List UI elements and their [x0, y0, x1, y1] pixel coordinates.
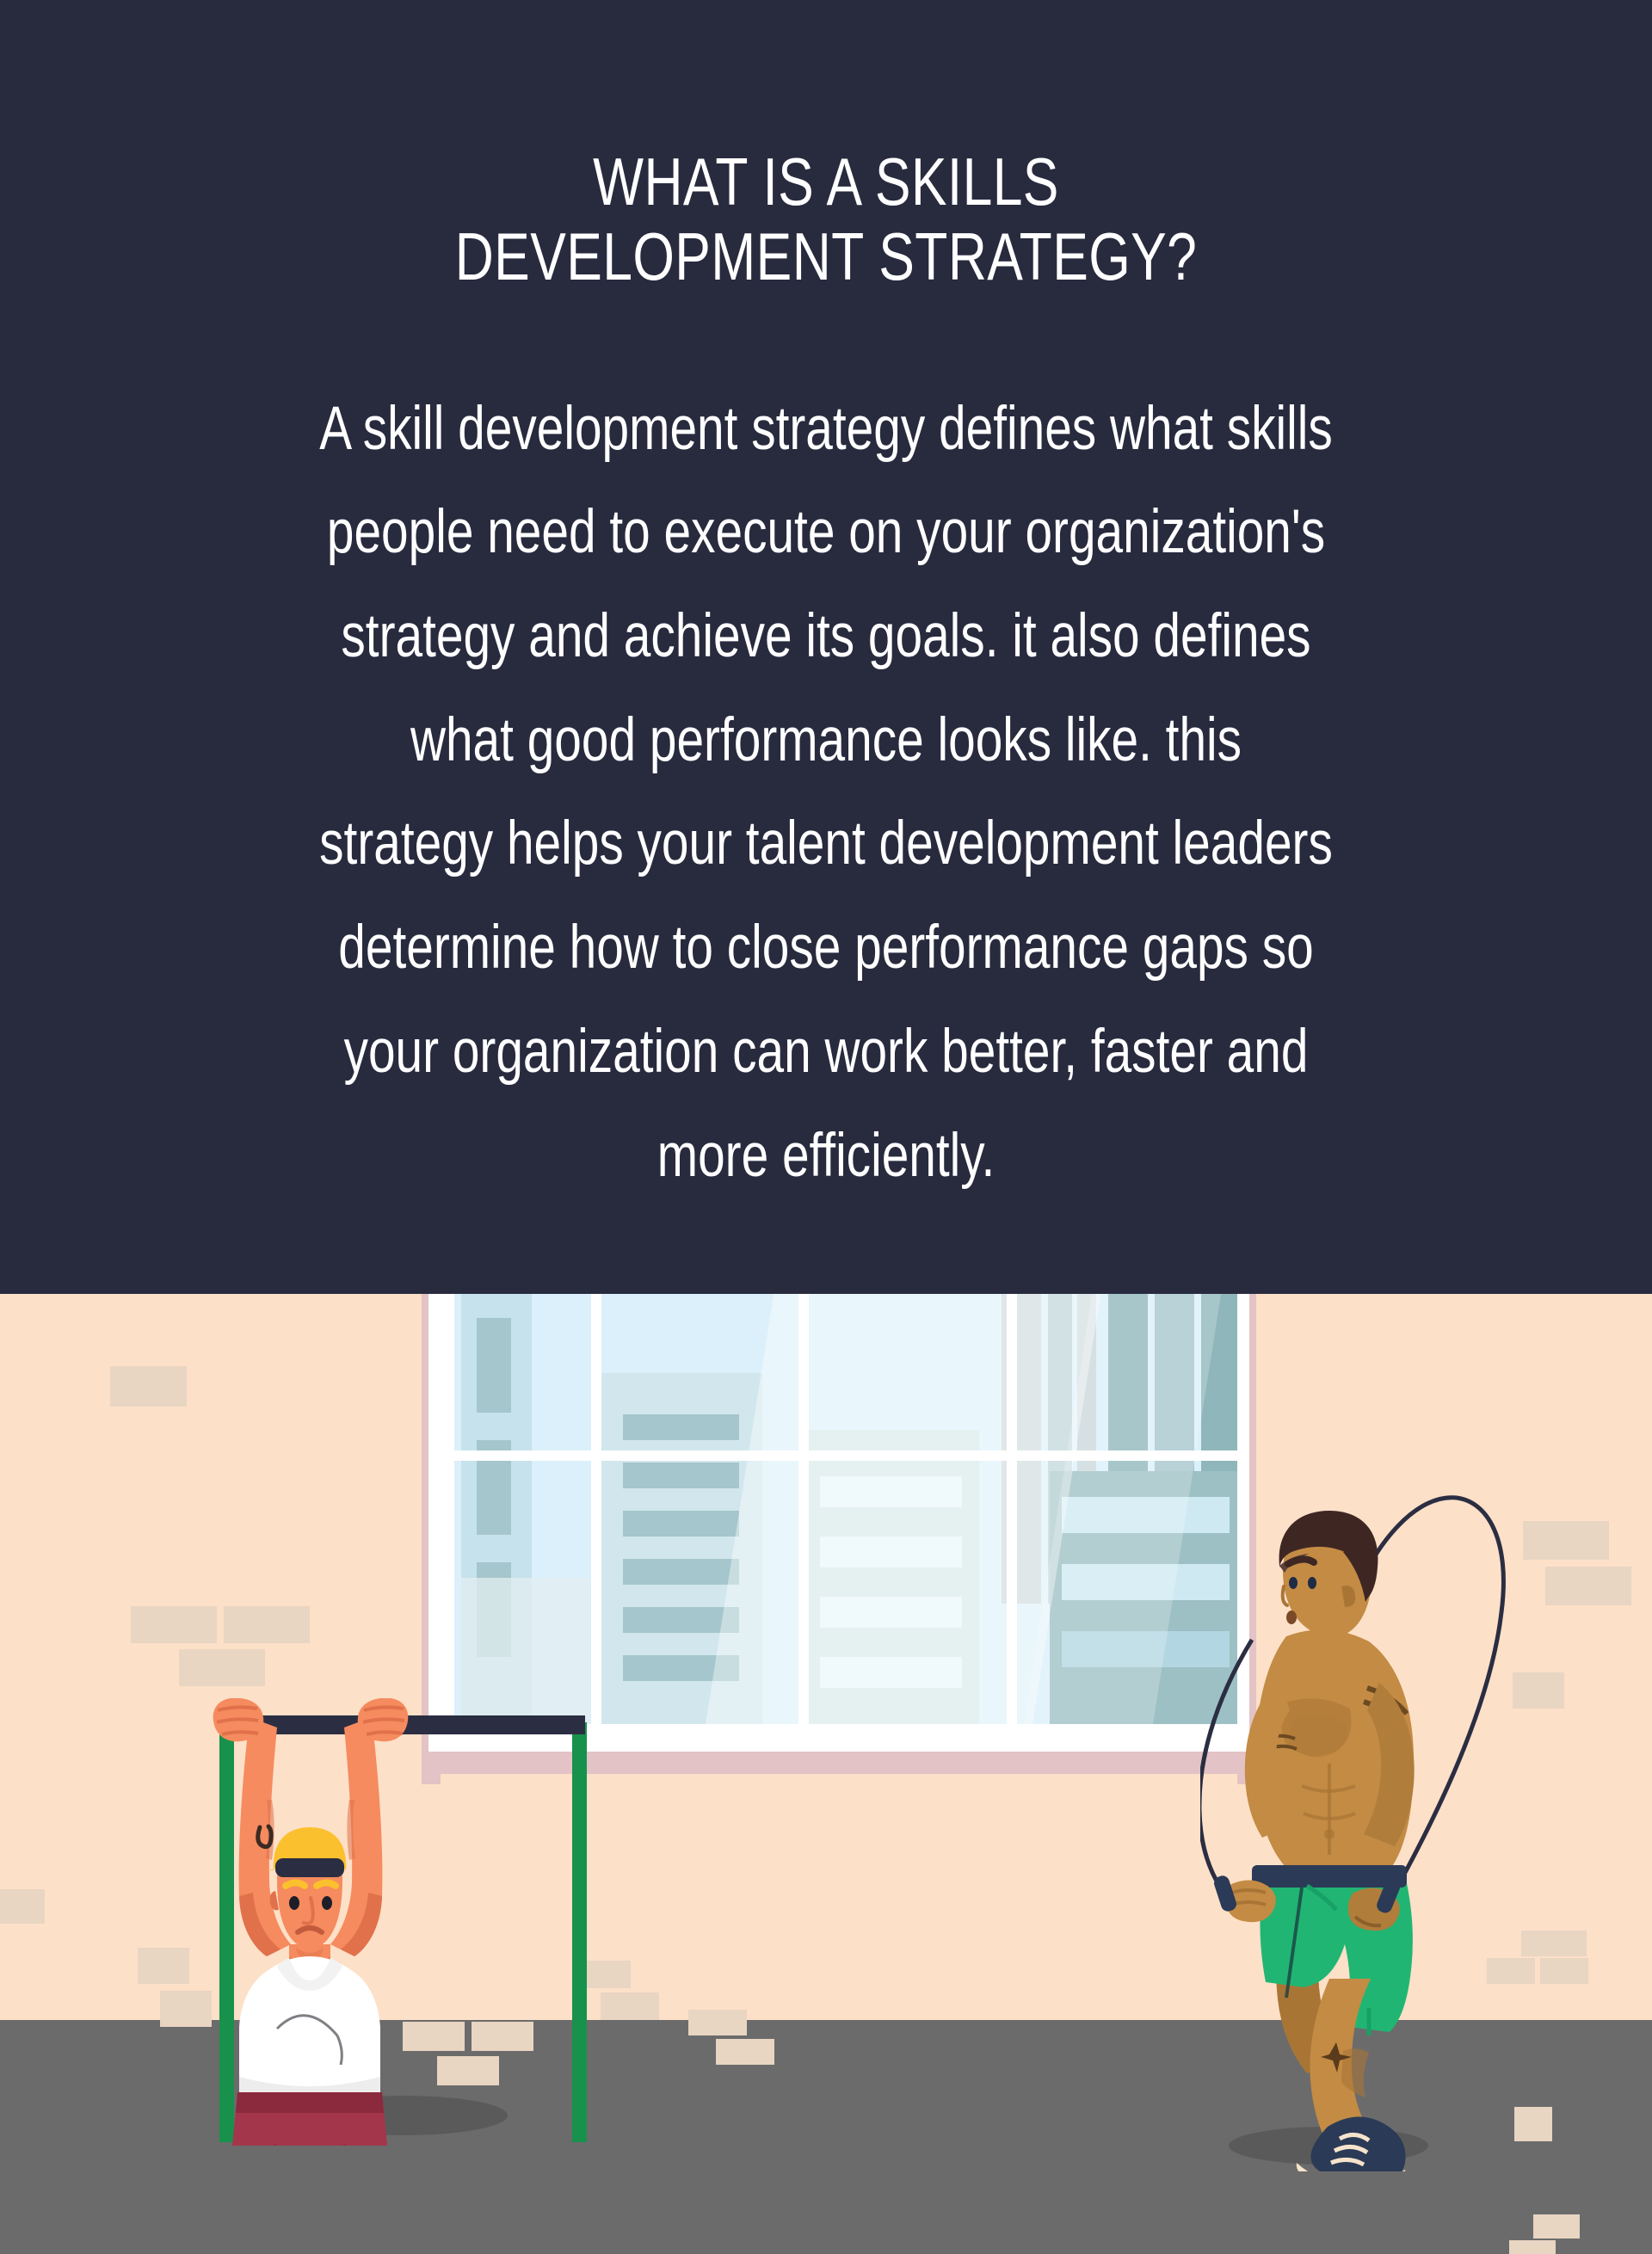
gym-illustration — [0, 1294, 1652, 2254]
window-mullion-vertical — [1007, 1294, 1017, 1724]
wall-brick — [688, 2010, 747, 2035]
tshirt — [239, 1956, 380, 2096]
wall-brick — [224, 1606, 310, 1643]
window — [422, 1294, 1256, 1784]
window-mullion-vertical — [798, 1294, 809, 1724]
wall-brick — [110, 1366, 187, 1407]
pullup-pole-right — [572, 1722, 587, 2142]
window-glass — [454, 1294, 1237, 1724]
wall-brick — [0, 1889, 45, 1924]
fist-right — [358, 1698, 409, 1741]
text-panel: WHAT IS A SKILLS DEVELOPMENT STRATEGY? A… — [0, 0, 1652, 1294]
man-jumping-rope — [1200, 1457, 1613, 2171]
wall-brick — [601, 1992, 659, 2020]
head — [1279, 1511, 1378, 1638]
wall-brick — [179, 1649, 265, 1686]
wall-brick — [1509, 2240, 1556, 2254]
shorts — [231, 2092, 389, 2146]
window-sill — [422, 1752, 1256, 1774]
window-frame — [428, 1294, 1249, 1752]
page-title: WHAT IS A SKILLS DEVELOPMENT STRATEGY? — [344, 145, 1308, 295]
jump-rope-left-strand — [1200, 1640, 1252, 1912]
man-doing-pullups — [129, 1698, 490, 2146]
wall-brick — [716, 2039, 774, 2065]
wall-brick — [1533, 2214, 1580, 2239]
window-mullion-vertical — [591, 1294, 601, 1724]
poster-canvas: WHAT IS A SKILLS DEVELOPMENT STRATEGY? A… — [0, 0, 1652, 2254]
fist-left — [213, 1698, 264, 1741]
wall-brick — [131, 1606, 217, 1643]
window-mullion-horizontal — [454, 1450, 1237, 1461]
shoe — [1297, 2116, 1406, 2171]
body-paragraph: A skill development strategy defines wha… — [268, 378, 1384, 1209]
